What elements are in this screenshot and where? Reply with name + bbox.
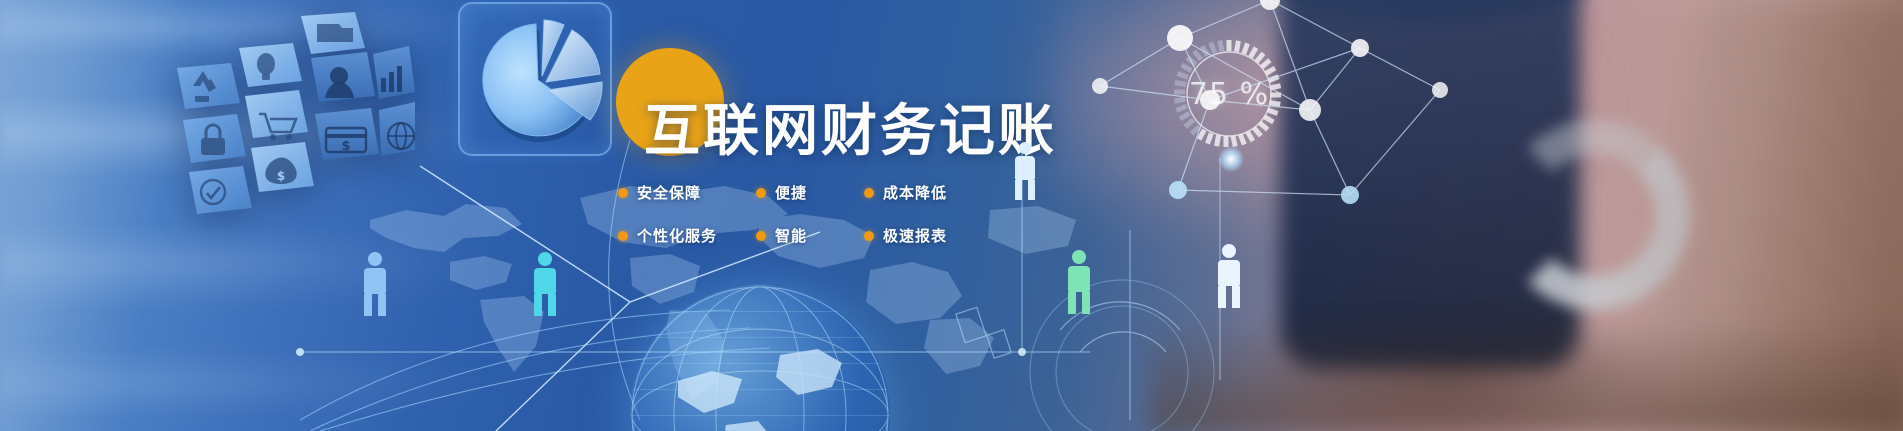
person-figure: [1062, 250, 1096, 314]
person-figure: [358, 252, 392, 316]
person-figure: [1010, 142, 1040, 200]
promo-banner: $: [0, 0, 1903, 431]
person-figure: [528, 252, 562, 316]
human-figure-icons: [0, 0, 1903, 431]
person-figure: [1212, 244, 1246, 308]
